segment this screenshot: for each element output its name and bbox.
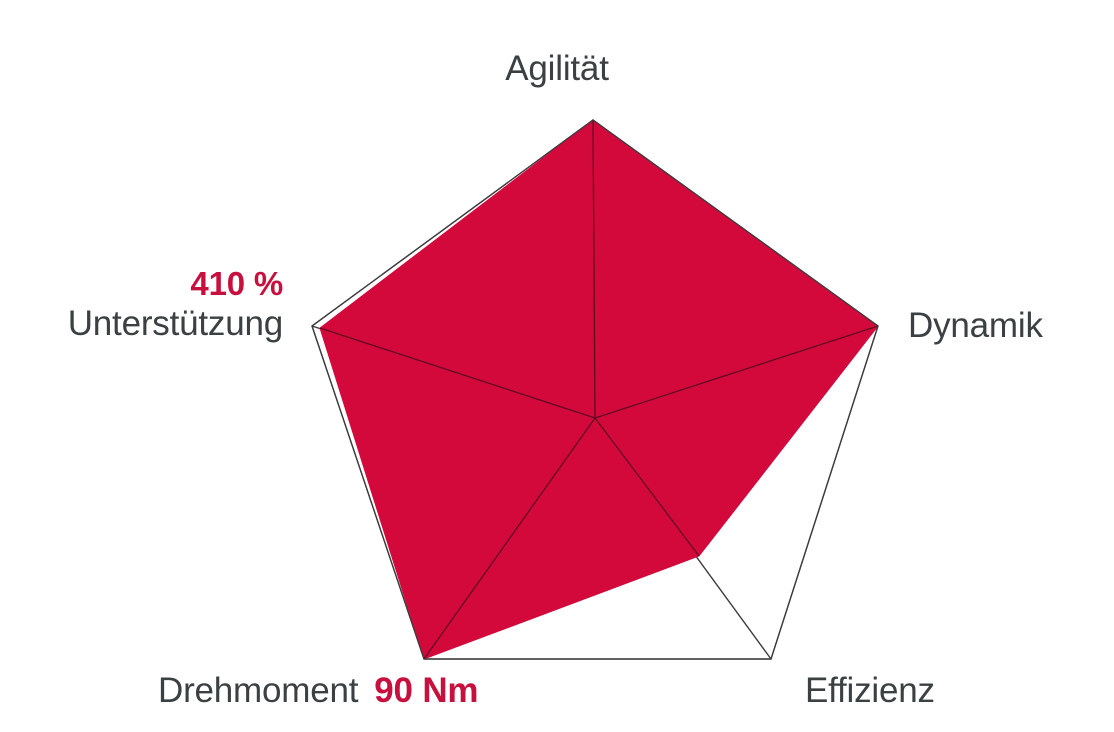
axis-label-effizienz: Effizienz — [805, 672, 935, 710]
axis-label-effizienz-text: Effizienz — [805, 671, 935, 710]
value-drehmoment: 90 Nm — [374, 671, 478, 710]
axis-label-agilitaet: Agilität — [0, 50, 1114, 88]
axis-label-unterstuetzung-text: Unterstützung — [0, 304, 283, 343]
value-unterstuetzung: 410 % — [0, 265, 283, 304]
axis-label-dynamik-text: Dynamik — [908, 306, 1043, 345]
axis-label-unterstuetzung: 410 % Unterstützung — [0, 265, 283, 343]
axis-label-agilitaet-text: Agilität — [505, 49, 608, 88]
axis-label-dynamik: Dynamik — [908, 307, 1043, 345]
radar-chart-stage: Agilität Dynamik Effizienz Drehmoment90 … — [0, 0, 1114, 732]
radar-chart-svg — [0, 0, 1114, 732]
axis-label-drehmoment: Drehmoment90 Nm — [158, 672, 478, 710]
axis-label-drehmoment-text: Drehmoment — [158, 671, 358, 710]
radar-data-polygon — [320, 120, 878, 659]
